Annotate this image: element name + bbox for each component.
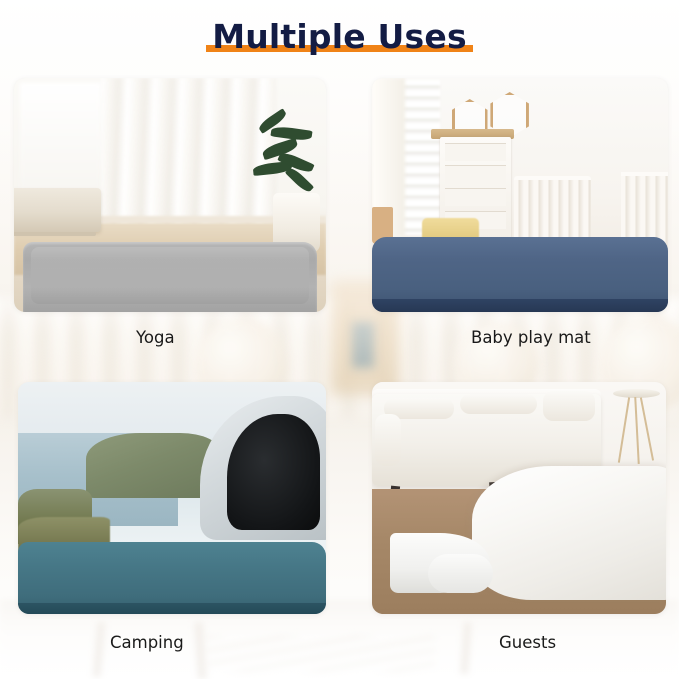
panel-baby-play-mat: [372, 78, 668, 312]
sofa-bolster-mid: [460, 394, 536, 415]
white-duvet: [472, 466, 666, 601]
yoga-ottoman: [14, 188, 101, 232]
heading-block: Multiple Uses: [0, 16, 679, 57]
panel-yoga: [14, 78, 326, 312]
sofa-bolster-right: [543, 391, 596, 421]
nursery-crib: [514, 176, 591, 246]
heading-inner: Multiple Uses: [202, 16, 477, 57]
page-title: Multiple Uses: [212, 16, 467, 57]
camping-tent-opening: [227, 414, 319, 530]
yoga-plant: [248, 106, 326, 204]
camping-scene: [18, 382, 326, 614]
panel-camping: [18, 382, 326, 614]
baby-scene: [372, 78, 668, 312]
caption-camping: Camping: [110, 633, 184, 652]
bolster-pillow: [428, 554, 493, 593]
multiple-uses-infographic: Multiple Uses: [0, 0, 679, 679]
guests-scene: [372, 382, 666, 614]
camping-mat: [18, 542, 326, 614]
sofa-armrest: [375, 414, 401, 465]
side-table-top: [613, 389, 660, 398]
baby-play-mat: [372, 237, 668, 312]
side-table: [613, 389, 660, 466]
yoga-scene: [14, 78, 326, 312]
caption-yoga: Yoga: [136, 328, 175, 347]
yoga-mat: [23, 242, 316, 312]
panel-guests: [372, 382, 666, 614]
caption-baby-play-mat: Baby play mat: [471, 328, 591, 347]
caption-guests: Guests: [499, 633, 556, 652]
